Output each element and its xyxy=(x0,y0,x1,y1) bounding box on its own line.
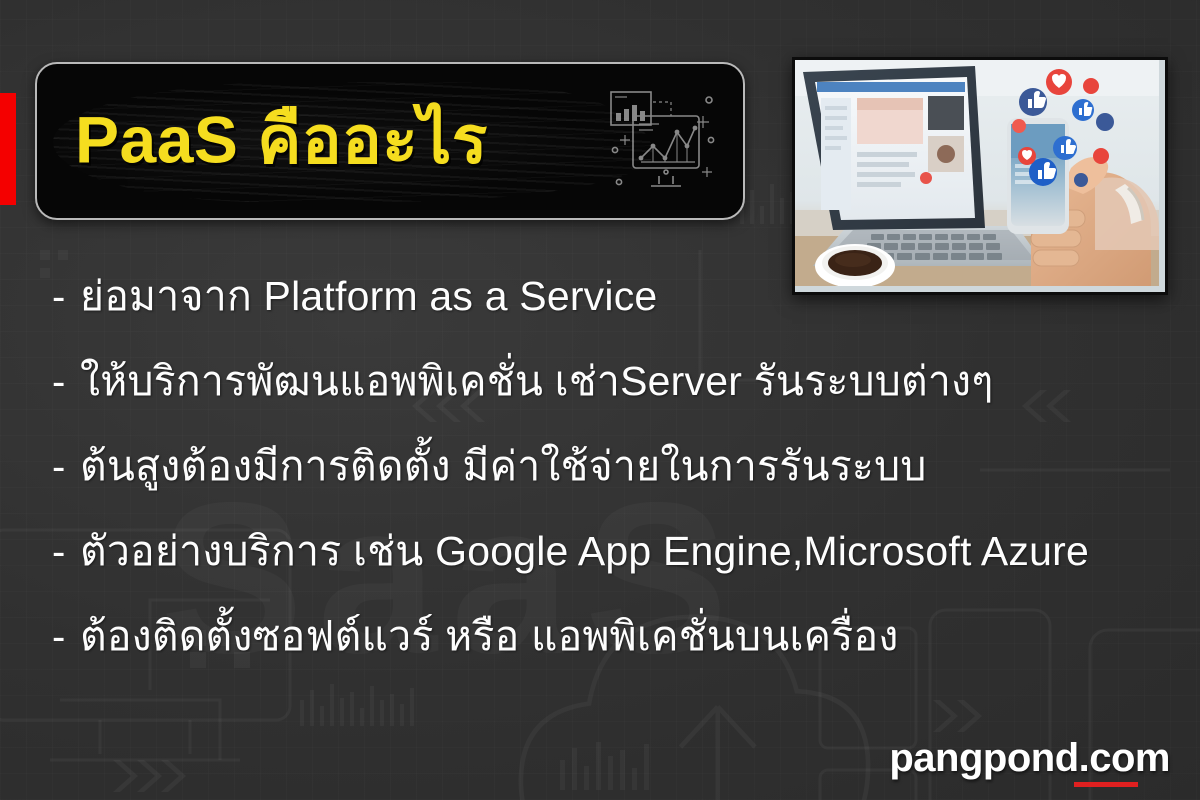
analytics-monitor-icon xyxy=(603,86,723,196)
red-accent-bar xyxy=(0,93,16,205)
brand-underline-accent xyxy=(1074,782,1138,787)
list-item: - ต้องติดตั้งซอฟต์แวร์ หรือ แอพพิเคชั่นบ… xyxy=(52,616,1182,701)
bullet-text: ต้นสูงต้องมีการติดตั้ง มีค่าใช้จ่ายในการ… xyxy=(80,446,927,487)
list-item: - ต้นสูงต้องมีการติดตั้ง มีค่าใช้จ่ายในก… xyxy=(52,446,1182,531)
brand-name: pangpond.com xyxy=(889,738,1170,778)
bullet-text: ย่อมาจาก Platform as a Service xyxy=(80,276,657,317)
bullet-marker: - xyxy=(52,362,80,402)
bullet-marker: - xyxy=(52,277,80,317)
bullet-marker: - xyxy=(52,617,80,657)
page-title: PaaS คืออะไร xyxy=(75,107,488,173)
poster-canvas: SaaS PaaS คืออะไร xyxy=(0,0,1200,800)
list-item: - ให้บริการพัฒนแอพพิเคชั่น เช่าServer รั… xyxy=(52,361,1182,446)
hero-photo xyxy=(792,57,1168,295)
bullet-list: - ย่อมาจาก Platform as a Service - ให้บร… xyxy=(52,276,1182,701)
bullet-text: ตัวอย่างบริการ เช่น Google App Engine,Mi… xyxy=(80,531,1089,572)
brand-logo[interactable]: pangpond.com xyxy=(889,738,1170,778)
bullet-marker: - xyxy=(52,447,80,487)
bullet-marker: - xyxy=(52,532,80,572)
title-plaque: PaaS คืออะไร xyxy=(35,62,745,220)
list-item: - ตัวอย่างบริการ เช่น Google App Engine,… xyxy=(52,531,1182,616)
list-item: - ย่อมาจาก Platform as a Service xyxy=(52,276,1182,361)
bullet-text: ต้องติดตั้งซอฟต์แวร์ หรือ แอพพิเคชั่นบนเ… xyxy=(80,616,899,657)
bullet-text: ให้บริการพัฒนแอพพิเคชั่น เช่าServer รันร… xyxy=(80,361,993,402)
